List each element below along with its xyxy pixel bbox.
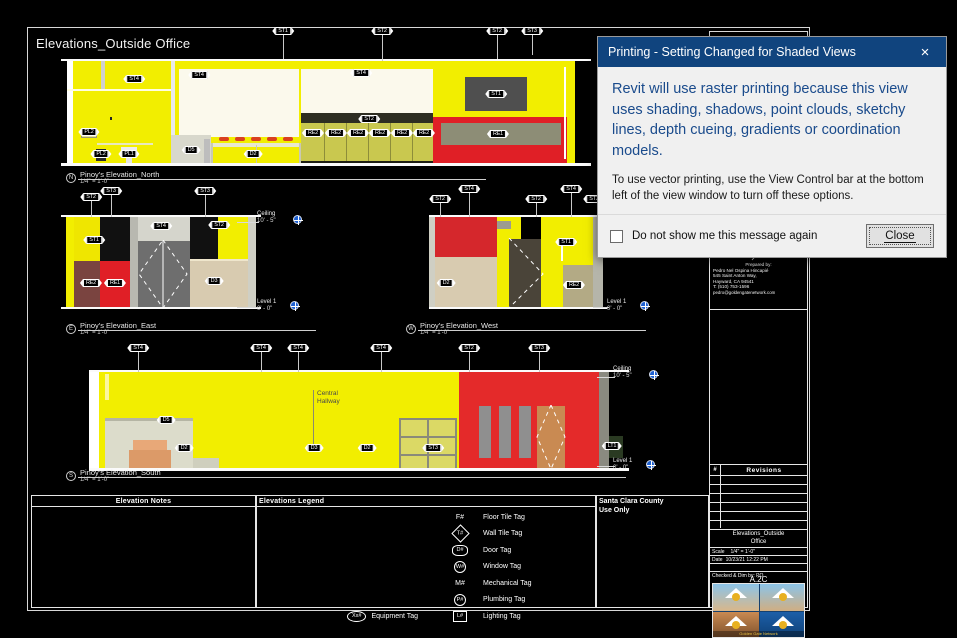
tag-d2[interactable]: D2 (247, 150, 260, 158)
tag-re2[interactable]: RE2 (566, 281, 582, 289)
tag-lt1[interactable]: LT1 (605, 442, 619, 450)
tag-st4[interactable]: ST4 (461, 185, 477, 193)
legend-label: Equipment Tag (366, 613, 418, 620)
view-marker: W (406, 324, 416, 334)
tag-d5[interactable]: D5 (160, 416, 173, 424)
view-scale: 1/4" = 1'-0" (80, 330, 109, 336)
tag-leader (298, 350, 299, 372)
legend-label: Door Tag (477, 547, 589, 554)
legend-label: Floor Tile Tag (477, 514, 589, 521)
tag-re2[interactable]: RE2 (416, 129, 432, 137)
logo-caption: Golden Gate Network (713, 631, 804, 637)
level-name: Level 1 (613, 458, 632, 465)
tag-st2[interactable]: ST2 (528, 195, 544, 203)
legend-label: Plumbing Tag (477, 596, 589, 603)
level-elev: 10' - 5" (257, 218, 276, 225)
tag-st4[interactable]: ST4 (563, 185, 579, 193)
elevation-notes-header: Elevation Notes (32, 496, 255, 507)
tag-leader (111, 193, 112, 217)
county-header-line1: Santa Clara County (597, 496, 708, 506)
do-not-show-label: Do not show me this message again (632, 230, 866, 242)
level-name: Ceiling (613, 366, 632, 373)
tag-d2[interactable]: D2 (361, 444, 374, 452)
do-not-show-checkbox[interactable] (610, 230, 623, 243)
tag-leader (539, 350, 540, 372)
county-header-line2: Use Only (597, 506, 708, 515)
tag-st4[interactable]: ST4 (126, 75, 142, 83)
elevation-north[interactable]: ST1 ST2 ST2 ST3 ST4 ST4 ST4 ST2 ST1 RE1 … (61, 57, 591, 167)
tag-st2[interactable]: ST2 (461, 344, 477, 352)
annotation-leader (313, 390, 314, 448)
view-marker: S (66, 471, 76, 481)
elevations-legend-table[interactable]: Elevations Legend F# Floor Tile Tag T# W… (256, 495, 596, 608)
elevation-notes-table[interactable]: Elevation Notes (31, 495, 256, 608)
tag-leader (469, 191, 470, 217)
tag-st3[interactable]: ST3 (524, 27, 540, 35)
plumbing-tag-icon: P# (443, 594, 477, 606)
tag-st4[interactable]: ST4 (130, 344, 146, 352)
tag-leader (440, 201, 441, 217)
sheet-info-block[interactable]: Elevations_Outside Office Scale 1/4" = 1… (710, 529, 807, 581)
legend-label: Mechanical Tag (477, 580, 589, 587)
level-elev: 10' - 5" (613, 373, 632, 380)
level-name: Level 1 (257, 299, 276, 306)
scale-label: Scale (712, 549, 725, 555)
legend-label: Window Tag (477, 563, 589, 570)
tag-st4[interactable]: ST4 (373, 344, 389, 352)
tag-leader (205, 193, 206, 217)
elevation-east[interactable]: ST2 ST3 ST3 ST4 ST2 ST1 RE2 RE1 D3 Ceili… (61, 203, 291, 313)
scale-value: 1/4" = 1'-0" (731, 549, 755, 555)
tag-leader (571, 191, 572, 217)
tag-st2[interactable]: ST2 (361, 115, 377, 123)
view-title-north[interactable]: N Pinoy's Elevation_North 1/4" = 1'-0" (66, 170, 486, 188)
tag-st4[interactable]: ST4 (191, 71, 207, 79)
elevations-legend-header: Elevations Legend (257, 496, 595, 507)
level-elev: 0' - 0" (257, 306, 276, 313)
tag-d5[interactable]: D5 (185, 146, 198, 154)
close-button-label: Close (884, 230, 915, 243)
list-item[interactable]: P# Plumbing Tag (443, 592, 589, 609)
elevation-west[interactable]: ST2 ST4 ST2 ST4 ST3 ST1 D2 RE2 Level 1 0… (401, 203, 601, 313)
dialog-titlebar[interactable]: Printing - Setting Changed for Shaded Vi… (598, 37, 946, 67)
view-name: Pinoy's Elevation_South (80, 468, 161, 477)
door-swing (507, 238, 547, 310)
dialog-body: Revit will use raster printing because t… (598, 67, 946, 204)
tag-re2[interactable]: RE2 (305, 129, 321, 137)
tag-st2[interactable]: ST2 (83, 193, 99, 201)
tag-d3[interactable]: D3 (208, 277, 221, 285)
tag-re2[interactable]: RE2 (372, 129, 388, 137)
tag-re2[interactable]: RE2 (350, 129, 366, 137)
view-title-east[interactable]: E Pinoy's Elevation_East 1/4" = 1'-0" (66, 321, 316, 339)
tag-leader (138, 350, 139, 372)
revisions-num-header: # (710, 465, 721, 475)
floor-tile-tag-icon: F# (443, 514, 477, 521)
list-item[interactable]: W# Window Tag (443, 559, 589, 576)
level-1[interactable]: Level 1 0' - 0" (257, 299, 276, 313)
tag-st2[interactable]: ST2 (211, 221, 227, 229)
tag-re2[interactable]: RE2 (394, 129, 410, 137)
tag-st3[interactable]: ST3 (103, 187, 119, 195)
list-item[interactable]: T# Wall Tile Tag (443, 526, 589, 543)
tag-leader (283, 33, 284, 59)
list-item[interactable]: Xx# Equipment Tag L# Lighting Tag (443, 608, 589, 625)
legend-rows: F# Floor Tile Tag T# Wall Tile Tag D# Do… (443, 509, 589, 625)
revisions-table[interactable]: # Revisions (710, 465, 807, 529)
annotation-central-hallway: Central Hallway (317, 390, 357, 406)
sheet-name-line1: Elevations_Outside (712, 531, 805, 539)
tag-leader (91, 199, 92, 217)
view-title-west[interactable]: W Pinoy's Elevation_West 1/4" = 1'-0" (406, 321, 646, 339)
tag-st3[interactable]: ST3 (425, 444, 441, 452)
close-icon[interactable]: × (904, 37, 946, 67)
window-tag-icon: W# (443, 561, 477, 573)
tag-pl2[interactable]: PL2 (81, 128, 96, 136)
sheet-title: Elevations_Outside Office (36, 36, 190, 51)
date-label: Date (712, 557, 723, 563)
equipment-tag-icon: Xx# (347, 611, 366, 622)
house-logo-icon (713, 584, 805, 638)
tag-re1[interactable]: RE1 (490, 130, 506, 138)
list-item[interactable]: M# Mechanical Tag (443, 575, 589, 592)
view-scale: 1/4" = 1'-0" (80, 179, 109, 185)
lighting-tag-icon: L# (443, 611, 477, 622)
tag-pl2[interactable]: PL2 (93, 150, 108, 158)
tag-pl1[interactable]: PL1 (121, 150, 136, 158)
view-scale: 1/4" = 1'-0" (80, 477, 109, 483)
dialog-submessage: To use vector printing, use the View Con… (612, 173, 932, 204)
sheet-name-line2: Office (712, 539, 805, 547)
view-name: Pinoy's Elevation_East (80, 321, 156, 330)
contact-email: pedro@goldengatenetwork.com (713, 290, 804, 296)
tag-leader (497, 33, 498, 59)
view-marker: N (66, 173, 76, 183)
elevation-south[interactable]: Central Hallway ST4 ST4 ST4 ST4 ST2 ST3 … (61, 358, 631, 473)
view-name: Pinoy's Elevation_West (420, 321, 498, 330)
tag-st4[interactable]: ST4 (290, 344, 306, 352)
tag-leader (261, 350, 262, 372)
tag-re2[interactable]: RE2 (83, 279, 99, 287)
county-use-table[interactable]: Santa Clara County Use Only (596, 495, 709, 608)
level-name: Level 1 (607, 299, 626, 306)
tag-st1[interactable]: ST1 (558, 238, 574, 246)
tag-leader (469, 350, 470, 372)
close-button-focus-ring: Close (869, 227, 931, 245)
dialog-footer: Do not show me this message again Close (598, 214, 946, 257)
tag-leader (536, 201, 537, 217)
dialog-title: Printing - Setting Changed for Shaded Vi… (608, 45, 904, 59)
tag-st2[interactable]: ST2 (489, 27, 505, 35)
date-value: 10/23/21 12:22 PM (726, 557, 768, 563)
tag-leader (382, 33, 383, 61)
level-elev: 0' - 0" (607, 306, 626, 313)
tag-st3[interactable]: ST3 (197, 187, 213, 195)
wall-tile-tag-icon: T# (443, 527, 477, 540)
tag-leader (381, 350, 382, 372)
tag-st1[interactable]: ST1 (275, 27, 291, 35)
tag-leader (532, 33, 533, 55)
tag-d3[interactable]: D3 (308, 444, 321, 452)
tag-st4[interactable]: ST4 (353, 69, 369, 77)
level-ceiling[interactable]: Ceiling 10' - 5" (257, 211, 276, 225)
printing-warning-dialog[interactable]: Printing - Setting Changed for Shaded Vi… (597, 36, 947, 258)
mechanical-tag-icon: M# (443, 580, 477, 587)
tag-st3[interactable]: ST3 (531, 344, 547, 352)
level-ceiling[interactable]: Ceiling 10' - 5" (613, 366, 632, 380)
tag-st4[interactable]: ST4 (153, 222, 169, 230)
equipment-tag-row[interactable]: Xx# Equipment Tag (347, 608, 418, 625)
revisions-header: Revisions (721, 465, 807, 475)
legend-label: Lighting Tag (477, 613, 589, 620)
list-item[interactable]: F# Floor Tile Tag (443, 509, 589, 526)
titleblock-blank-panel (710, 310, 807, 465)
door-tag-icon: D# (443, 545, 477, 556)
tag-st1[interactable]: ST1 (488, 90, 504, 98)
door-swing (535, 405, 567, 471)
list-item[interactable]: D# Door Tag (443, 542, 589, 559)
tag-st1[interactable]: ST1 (86, 236, 102, 244)
close-button[interactable]: Close (866, 224, 934, 248)
view-scale: 1/4" = 1'-0" (420, 330, 449, 336)
tag-d2[interactable]: D2 (178, 444, 191, 452)
tag-re1[interactable]: RE1 (107, 279, 123, 287)
door-swing (135, 240, 195, 310)
tag-d2[interactable]: D2 (440, 279, 453, 287)
tag-st2[interactable]: ST2 (432, 195, 448, 203)
tag-re2[interactable]: RE2 (328, 129, 344, 137)
dialog-message: Revit will use raster printing because t… (612, 79, 932, 161)
tag-st4[interactable]: ST4 (253, 344, 269, 352)
view-marker: E (66, 324, 76, 334)
tag-st2[interactable]: ST2 (374, 27, 390, 35)
level-ceiling[interactable]: Level 1 0' - 0" (607, 299, 626, 313)
view-title-south[interactable]: S Pinoy's Elevation_South 1/4" = 1'-0" (66, 468, 626, 486)
level-name: Ceiling (257, 211, 276, 218)
legend-label: Wall Tile Tag (477, 530, 589, 537)
view-name: Pinoy's Elevation_North (80, 170, 159, 179)
logo-block: Golden Gate Network (712, 583, 805, 638)
